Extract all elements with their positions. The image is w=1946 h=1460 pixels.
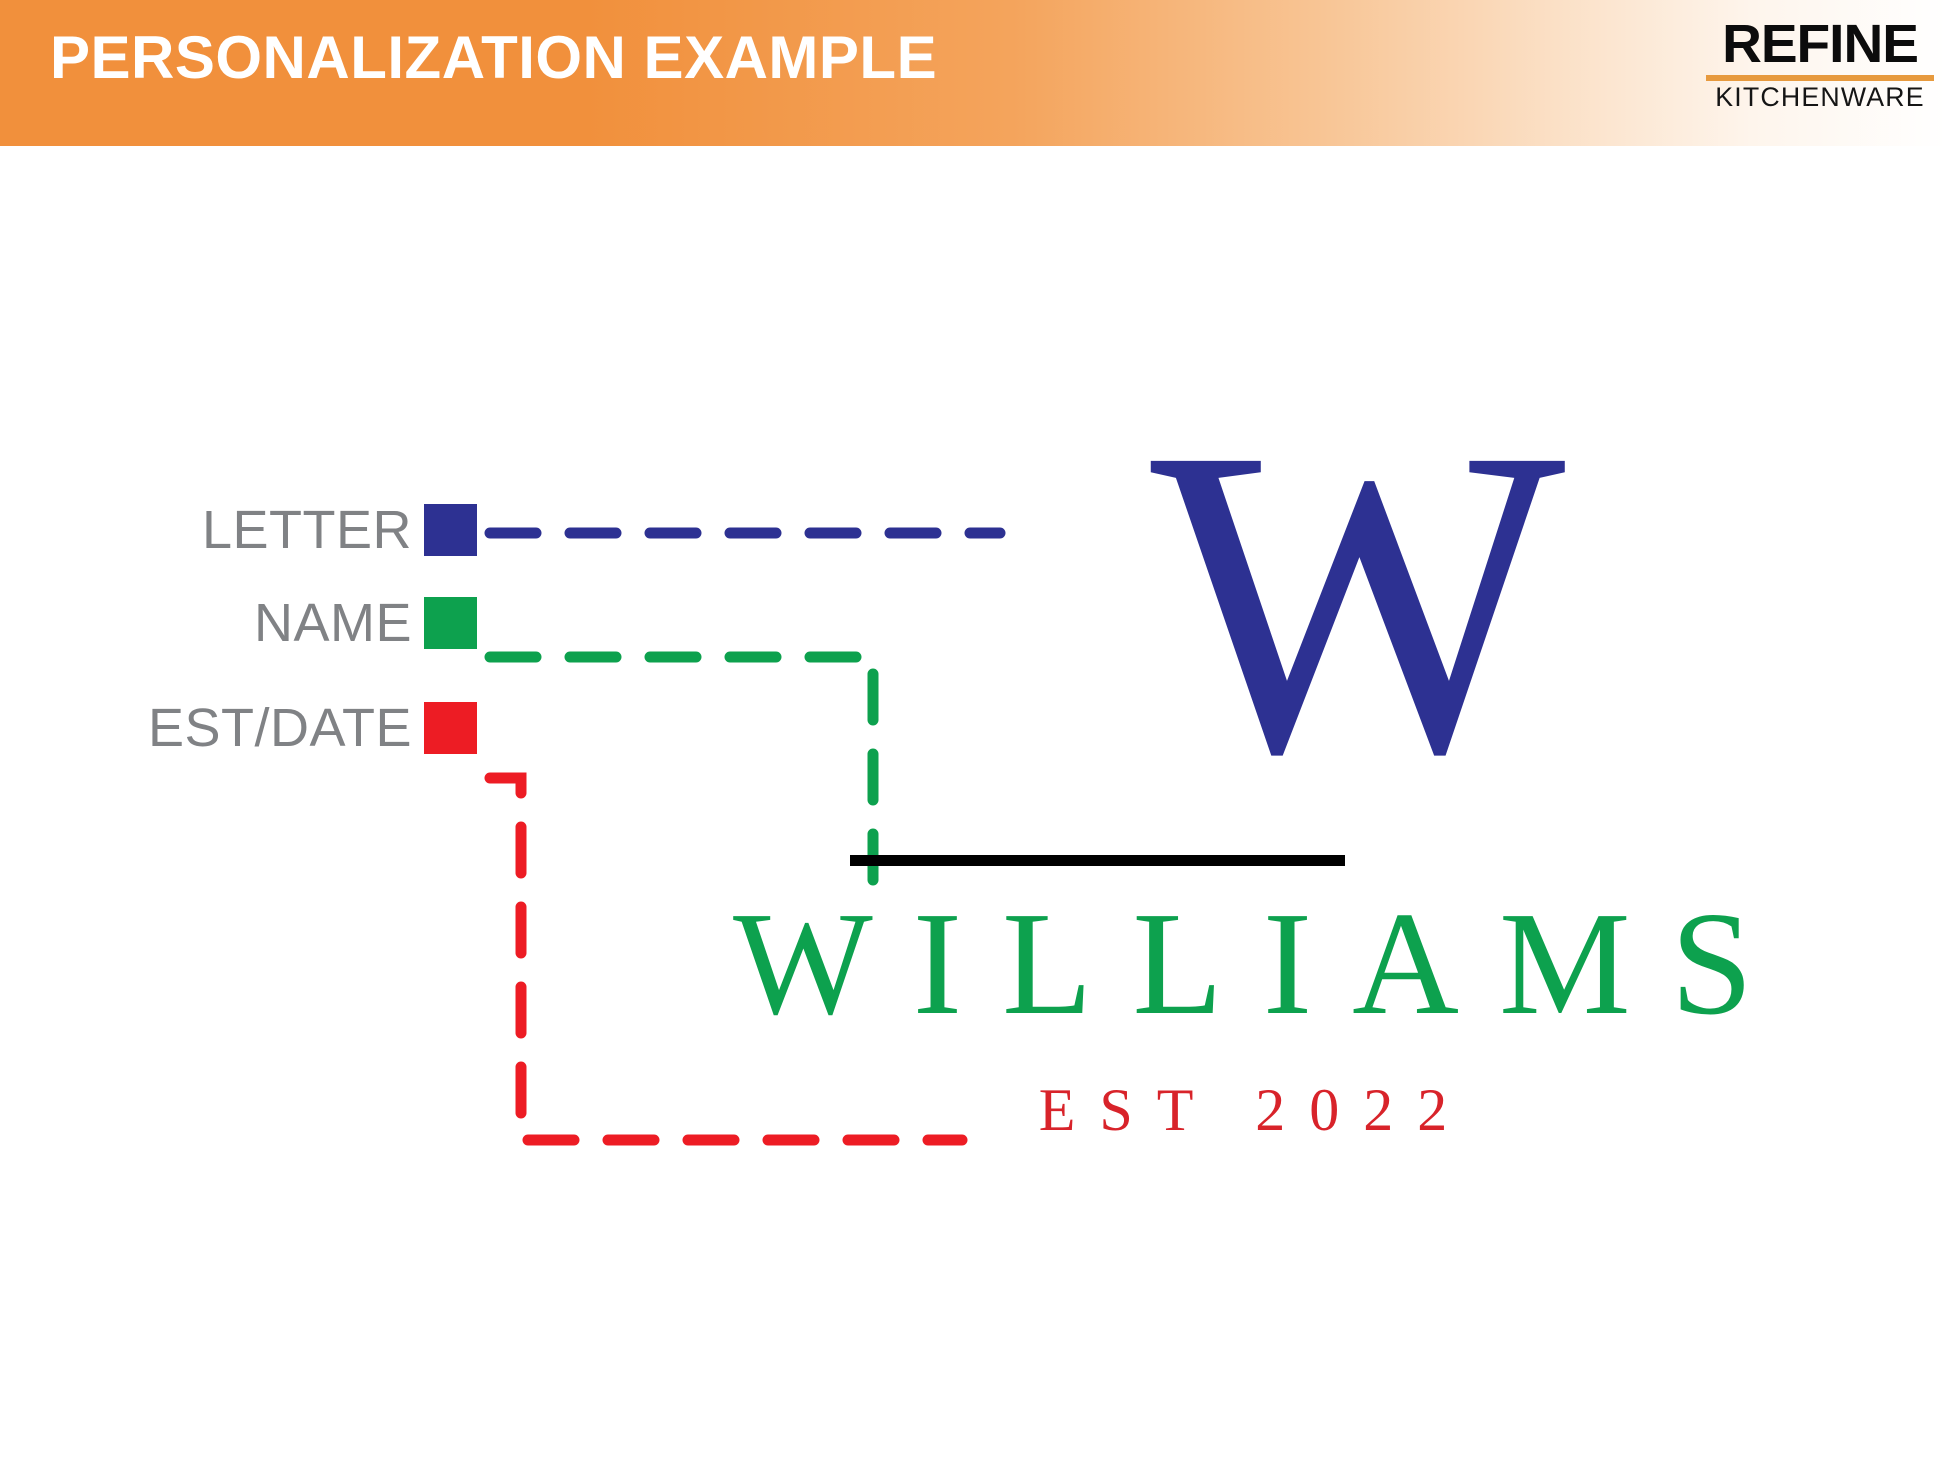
- page-title: PERSONALIZATION EXAMPLE: [50, 28, 937, 88]
- legend-item-name-label: NAME: [72, 596, 412, 650]
- brand-logo: REFINE KITCHENWARE: [1706, 18, 1934, 111]
- monogram-preview: W WILLIAMS EST 2022: [598, 400, 1888, 1210]
- monogram-initial-letter: W: [713, 400, 1946, 805]
- legend-item-est-date: EST/DATE: [72, 700, 477, 756]
- color-swatch-icon-est-date: [424, 702, 477, 754]
- color-swatch-icon-letter: [424, 504, 477, 556]
- brand-tagline: KITCHENWARE: [1707, 84, 1933, 111]
- monogram-established-line: EST 2022: [598, 1080, 1888, 1140]
- legend-item-name: NAME: [72, 595, 477, 651]
- color-swatch-icon-name: [424, 597, 477, 649]
- legend-item-letter-label: LETTER: [72, 503, 412, 557]
- brand-divider-rule: [1706, 75, 1934, 81]
- monogram-divider-rule: [850, 855, 1345, 866]
- legend-item-letter: LETTER: [72, 502, 477, 558]
- monogram-family-name: WILLIAMS: [598, 887, 1888, 1042]
- legend-item-est-date-label: EST/DATE: [72, 701, 412, 755]
- brand-name: REFINE: [1704, 18, 1937, 71]
